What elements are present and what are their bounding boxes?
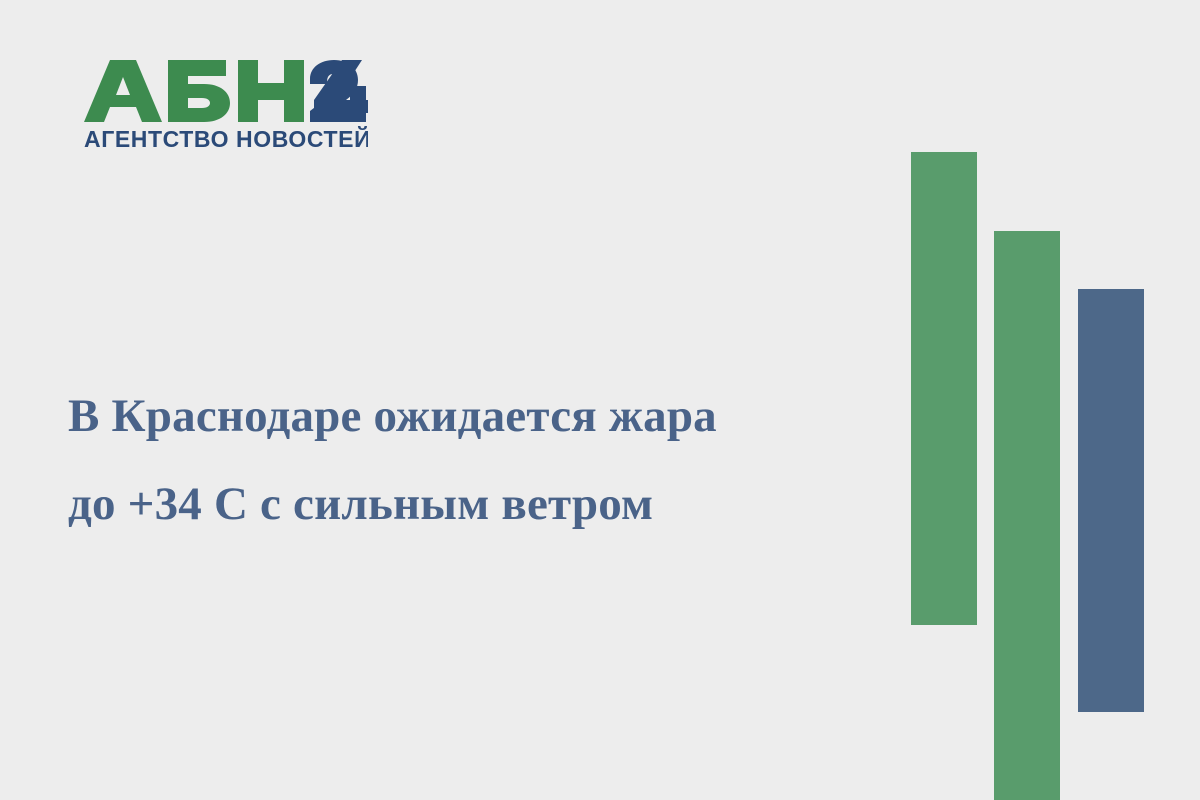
abn24-logo[interactable]: АГЕНТСТВО НОВОСТЕЙ: [84, 60, 368, 160]
logo-letter-en: [238, 60, 304, 122]
logo-wordmark: [84, 60, 368, 122]
page-title-line-1: В Краснодаре ожидается жара: [68, 372, 868, 460]
logo-digit-four-icon: [308, 60, 368, 122]
logo-tagline: АГЕНТСТВО НОВОСТЕЙ: [84, 124, 368, 158]
page-title-line-2: до +34 С с сильным ветром: [68, 460, 868, 548]
page-title: В Краснодаре ожидается жара до +34 С с с…: [68, 372, 868, 548]
news-card: АГЕНТСТВО НОВОСТЕЙ В Краснодаре ожидаетс…: [0, 0, 1200, 800]
decorative-bar-3: [1078, 289, 1144, 712]
decorative-bar-1: [911, 152, 977, 625]
logo-letter-be: [168, 60, 230, 122]
logo-tagline-text: АГЕНТСТВО НОВОСТЕЙ: [84, 125, 368, 152]
logo-letter-a: [84, 60, 162, 122]
decorative-bar-2: [994, 231, 1060, 800]
